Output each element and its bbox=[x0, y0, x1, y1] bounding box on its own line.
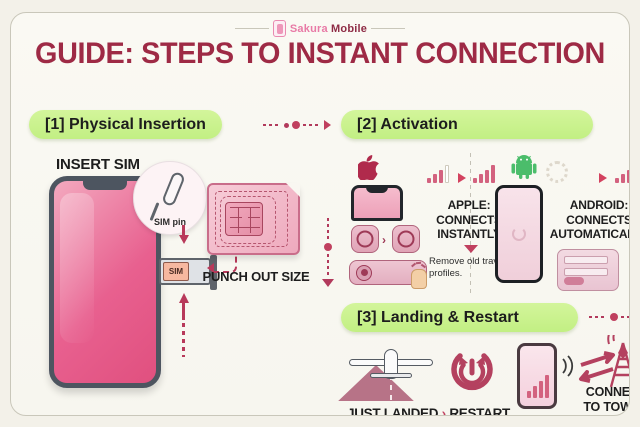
arrow-down-icon bbox=[179, 235, 189, 244]
connector-dot-small bbox=[284, 123, 289, 128]
step-3-badge: [3] Landing & Restart bbox=[341, 303, 578, 332]
connect-line1: CONNECT bbox=[586, 385, 630, 399]
runway-shape bbox=[338, 365, 414, 401]
signal-transition-arrow-icon bbox=[458, 173, 466, 183]
cell-tower-icon bbox=[603, 335, 630, 391]
just-landed-label: JUST LANDED bbox=[347, 406, 438, 416]
signal-bars-searching-icon bbox=[427, 163, 449, 183]
hand-cursor-icon bbox=[411, 269, 427, 289]
vertical-arrowhead-icon bbox=[322, 279, 334, 287]
connect-to-tower-label: CONNECT TO TOWER bbox=[571, 385, 630, 415]
loading-spinner-icon bbox=[512, 227, 526, 241]
restart-label: RESTART bbox=[449, 406, 510, 416]
settings-icon-before bbox=[351, 225, 379, 253]
apple-phone-notch bbox=[366, 187, 388, 193]
chevron-right-icon: › bbox=[382, 233, 386, 247]
page-title: GUIDE: STEPS TO INSTANT CONNECTION bbox=[23, 37, 616, 71]
android-phone-illustration bbox=[495, 185, 543, 283]
profile-avatar-icon bbox=[356, 265, 372, 281]
apple-logo-icon bbox=[358, 155, 380, 180]
sim-chip-contacts bbox=[225, 202, 263, 236]
step-2-badge: [2] Activation bbox=[341, 110, 593, 139]
phone-notch bbox=[83, 180, 127, 190]
restart-power-icon bbox=[448, 346, 496, 394]
connector-dot-large bbox=[610, 313, 618, 321]
apple-heading-line1: APPLE: bbox=[448, 198, 491, 212]
vertical-connector-dot bbox=[324, 243, 332, 251]
android-heading-line2: CONNECTS bbox=[566, 213, 630, 227]
apple-heading-line2: CONNECTS bbox=[436, 213, 502, 227]
android-signal-arrow-icon bbox=[599, 173, 607, 183]
arrow-up-stem bbox=[182, 302, 185, 320]
vertical-dash-upper bbox=[327, 218, 329, 240]
brand-name-first: Sakura bbox=[290, 23, 328, 35]
connector-arrowhead-icon bbox=[324, 120, 331, 130]
connected-signal-bars-icon bbox=[527, 372, 549, 398]
brand-rule-right bbox=[371, 28, 405, 29]
connector-dash bbox=[621, 316, 630, 318]
connector-dash bbox=[303, 124, 321, 126]
brand-name: Sakura Mobile bbox=[290, 23, 367, 35]
signal-bars-full-icon bbox=[473, 163, 495, 183]
android-heading-line3: AUTOMATICALLY bbox=[550, 227, 630, 241]
apple-phone-illustration bbox=[351, 185, 403, 221]
arrow-up-dotted-trail bbox=[182, 323, 185, 357]
sim-card-punch-out bbox=[207, 183, 300, 255]
sim-tray-chip: SIM bbox=[163, 262, 189, 281]
connector-dash bbox=[263, 124, 281, 126]
activation-spinner-icon bbox=[546, 161, 568, 183]
signal-waves-icon bbox=[559, 353, 575, 379]
airplane-tailplane bbox=[370, 373, 412, 378]
android-settings-card bbox=[557, 249, 619, 291]
android-heading-line1: ANDROID: bbox=[570, 198, 628, 212]
connector-dot-large bbox=[292, 121, 300, 129]
settings-card-button bbox=[564, 277, 584, 285]
apple-heading-line3: INSTANTLY bbox=[437, 227, 501, 241]
sim-pin-label: SIM pin bbox=[134, 217, 206, 227]
connected-phone-illustration bbox=[517, 343, 557, 409]
airplane-landing-illustration bbox=[346, 343, 436, 403]
phone-screen-gloss bbox=[60, 193, 94, 343]
infographic-card: Sakura Mobile GUIDE: STEPS TO INSTANT CO… bbox=[10, 12, 630, 416]
connector-dash bbox=[589, 316, 607, 318]
infographic-root: Sakura Mobile GUIDE: STEPS TO INSTANT CO… bbox=[0, 0, 640, 427]
connector-step3 bbox=[589, 312, 630, 322]
apple-note-arrow-icon bbox=[464, 245, 478, 253]
step-1-badge: [1] Physical Insertion bbox=[29, 110, 222, 139]
android-description: ANDROID: CONNECTS AUTOMATICALLY bbox=[549, 198, 630, 242]
connector-step1-to-step2 bbox=[263, 120, 331, 130]
sim-pin-callout: SIM pin bbox=[133, 161, 207, 235]
label-separator: › bbox=[442, 406, 446, 416]
connector-step1-to-step3-vertical bbox=[321, 218, 335, 303]
brand-header: Sakura Mobile bbox=[11, 20, 629, 37]
settings-icon-after bbox=[392, 225, 420, 253]
android-signal-bars-icon bbox=[615, 163, 630, 183]
sakura-logo-icon bbox=[273, 20, 286, 37]
insert-sim-label: INSERT SIM bbox=[56, 156, 140, 173]
sim-pin-icon bbox=[161, 171, 186, 207]
brand-rule-left bbox=[235, 28, 269, 29]
just-landed-restart-label: JUST LANDED › RESTART bbox=[341, 406, 516, 416]
punch-out-size-label: PUNCH OUT SIZE bbox=[201, 269, 311, 284]
remove-note-line1: Remove old bbox=[429, 256, 480, 267]
android-robot-icon bbox=[511, 155, 537, 179]
connect-line2: TO TOWER bbox=[583, 400, 630, 414]
vertical-dash-lower bbox=[327, 254, 329, 276]
brand-name-second: Mobile bbox=[331, 23, 367, 35]
